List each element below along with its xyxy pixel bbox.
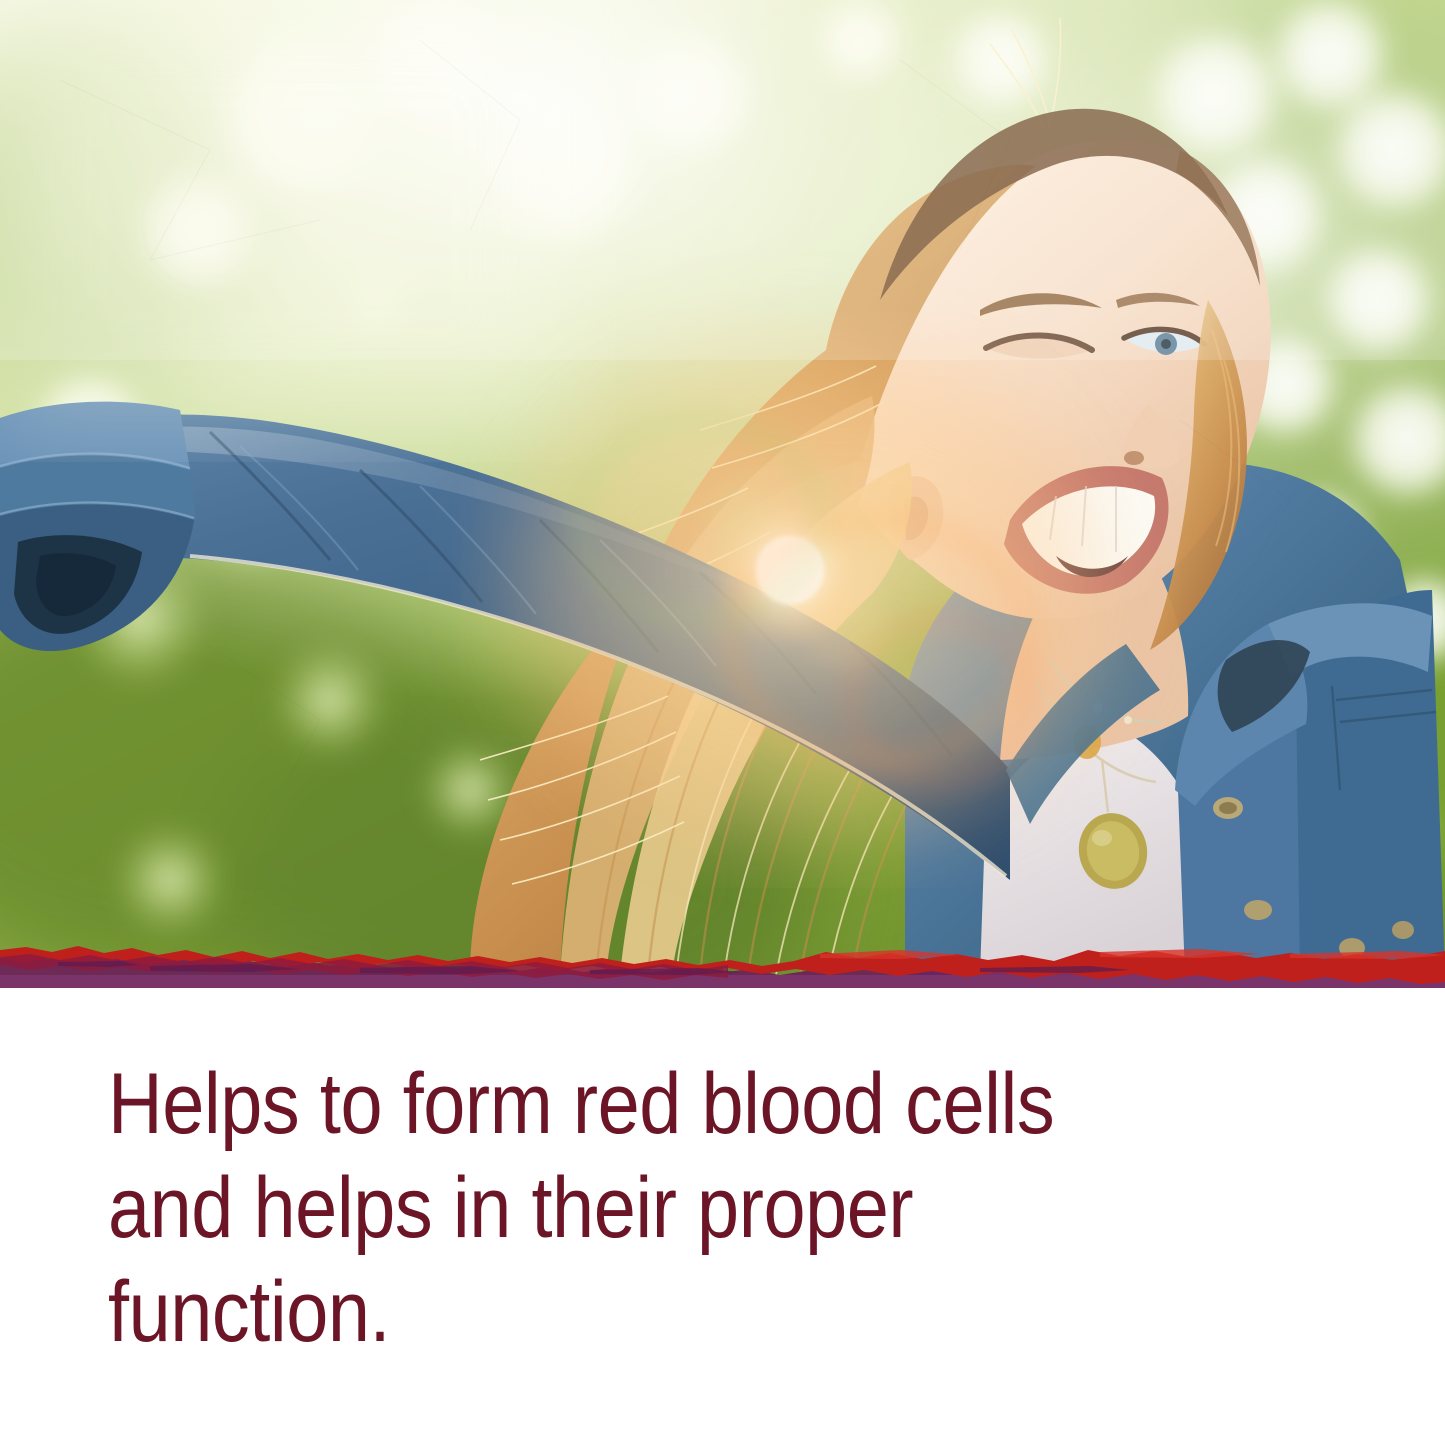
caption-line-3: function. [108, 1260, 1190, 1364]
benefit-card: Helps to form red blood cells and helps … [0, 0, 1445, 1445]
caption-line-2: and helps in their proper [108, 1156, 1190, 1260]
hero-photo-illustration [0, 0, 1445, 975]
benefit-caption: Helps to form red blood cells and helps … [108, 1052, 1338, 1364]
hero-photo [0, 0, 1445, 975]
caption-line-1: Helps to form red blood cells [108, 1052, 1190, 1156]
